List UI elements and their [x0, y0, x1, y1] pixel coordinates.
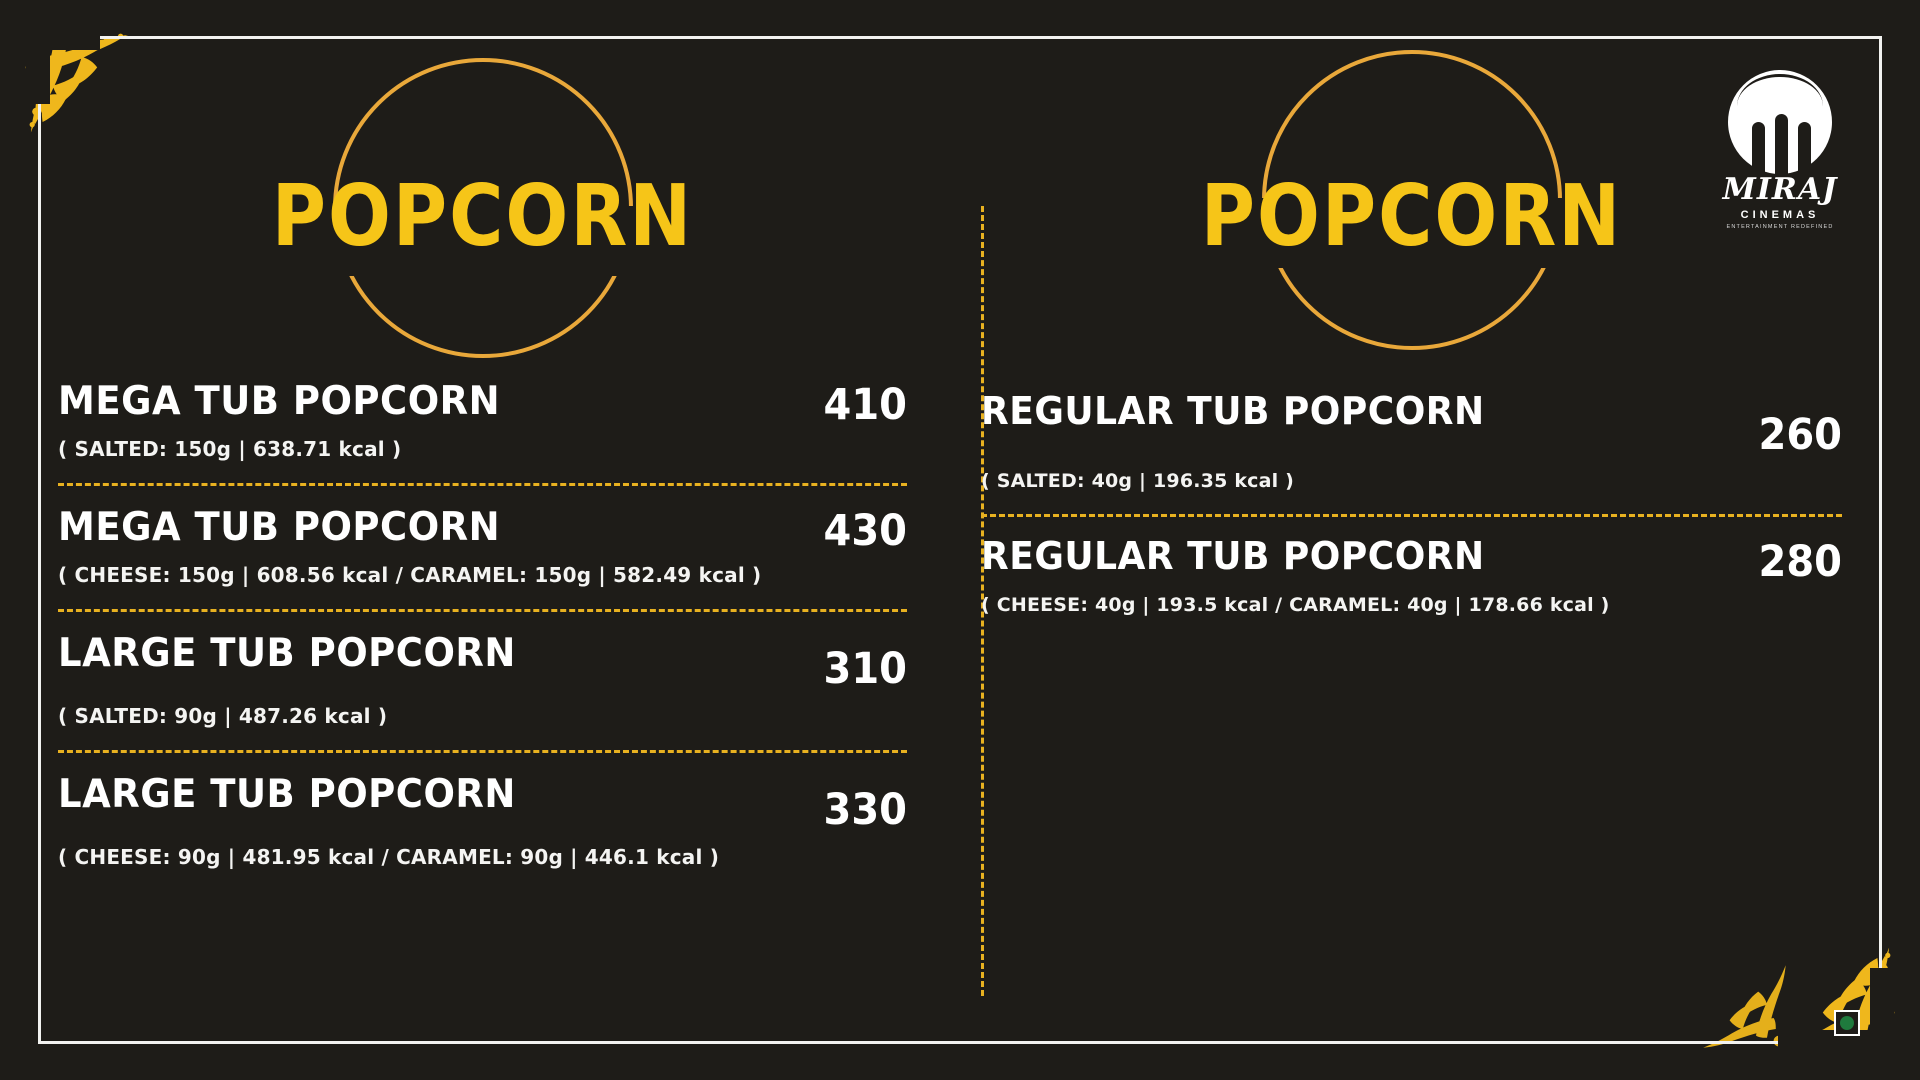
logo-pillar — [1752, 122, 1765, 174]
item-price: 260 — [1759, 411, 1843, 460]
item-description: ( SALTED: 40g | 196.35 kcal ) — [981, 470, 1842, 492]
logo-pillar — [1775, 114, 1788, 174]
item-description: ( CHEESE: 150g | 608.56 kcal / CARAMEL: … — [58, 563, 907, 587]
item-price: 310 — [824, 645, 908, 694]
item-name: MEGA TUB POPCORN — [58, 506, 500, 548]
logo-tagline: ENTERTAINMENT REDEFINED — [1712, 224, 1848, 230]
menu-row[interactable]: REGULAR TUB POPCORN 260 ( SALTED: 40g | … — [981, 392, 1842, 492]
section-title-left: POPCORN — [272, 167, 694, 266]
item-name: REGULAR TUB POPCORN — [981, 392, 1485, 433]
item-description: ( CHEESE: 90g | 481.95 kcal / CARAMEL: 9… — [58, 845, 907, 869]
logo-sub-name: CINEMAS — [1712, 209, 1848, 221]
row-separator — [981, 514, 1842, 517]
item-description: ( SALTED: 90g | 487.26 kcal ) — [58, 704, 907, 728]
menu-row[interactable]: MEGA TUB POPCORN 410 ( SALTED: 150g | 63… — [58, 380, 907, 461]
row-separator — [58, 609, 907, 612]
row-separator — [58, 483, 907, 486]
vegetarian-dot — [1840, 1016, 1854, 1030]
logo-brand-name: MIRAJ — [1712, 172, 1848, 207]
menu-column-left: POPCORN MEGA TUB POPCORN 410 ( SALTED: 1… — [38, 36, 943, 1044]
menu-row[interactable]: REGULAR TUB POPCORN 280 ( CHEESE: 40g | … — [981, 537, 1842, 616]
menu-rows-left: MEGA TUB POPCORN 410 ( SALTED: 150g | 63… — [58, 380, 907, 869]
section-header-left: POPCORN — [58, 36, 907, 396]
item-name: LARGE TUB POPCORN — [58, 632, 516, 674]
row-separator — [58, 750, 907, 753]
item-description: ( SALTED: 150g | 638.71 kcal ) — [58, 437, 907, 461]
item-price: 280 — [1759, 538, 1843, 587]
item-name: REGULAR TUB POPCORN — [981, 537, 1485, 578]
miraj-cinemas-logo: MIRAJ CINEMAS ENTERTAINMENT REDEFINED — [1712, 70, 1848, 240]
item-description: ( CHEESE: 40g | 193.5 kcal / CARAMEL: 40… — [981, 594, 1842, 616]
item-price: 430 — [824, 507, 908, 556]
menu-row[interactable]: MEGA TUB POPCORN 430 ( CHEESE: 150g | 60… — [58, 506, 907, 587]
logo-emblem-icon — [1725, 70, 1835, 174]
item-name: MEGA TUB POPCORN — [58, 380, 500, 422]
vegetarian-mark-icon — [1834, 1010, 1860, 1036]
menu-board: POPCORN MEGA TUB POPCORN 410 ( SALTED: 1… — [38, 36, 1882, 1044]
logo-pillar — [1798, 122, 1811, 174]
item-price: 410 — [824, 381, 908, 430]
section-title-right: POPCORN — [1201, 167, 1623, 266]
item-name: LARGE TUB POPCORN — [58, 773, 516, 815]
menu-rows-right: REGULAR TUB POPCORN 260 ( SALTED: 40g | … — [981, 392, 1842, 616]
menu-row[interactable]: LARGE TUB POPCORN 310 ( SALTED: 90g | 48… — [58, 632, 907, 728]
menu-row[interactable]: LARGE TUB POPCORN 330 ( CHEESE: 90g | 48… — [58, 773, 907, 869]
item-price: 330 — [824, 786, 908, 835]
